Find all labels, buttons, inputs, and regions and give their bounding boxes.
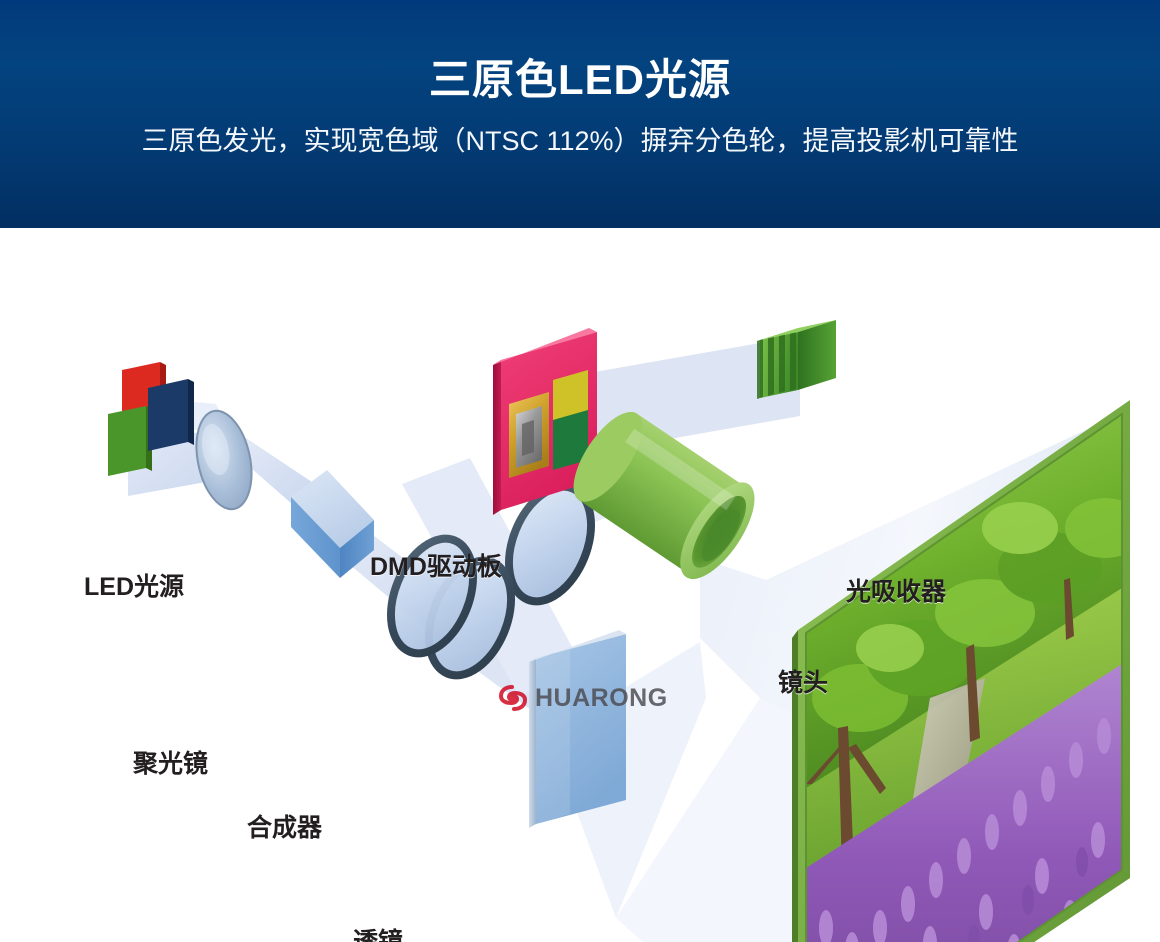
label-dmd-board: DMD驱动板 (370, 552, 502, 582)
absorber-side (798, 320, 836, 390)
huarong-logo-icon (498, 684, 528, 712)
projector-lightpath-diagram: LED光源 聚光镜 合成器 透镜 折射镜 DMD驱动板 光吸收器 镜头 HUAR… (0, 228, 1160, 942)
absorber-fins (757, 331, 798, 399)
product-feature-page: 三原色LED光源 三原色发光，实现宽色域（NTSC 112%）摒弃分色轮，提高投… (0, 0, 1160, 942)
led-panel-navy-edge (188, 379, 194, 445)
projection-screen-component (792, 398, 1145, 942)
header-banner: 三原色LED光源 三原色发光，实现宽色域（NTSC 112%）摒弃分色轮，提高投… (0, 0, 1160, 228)
dmd-chip-core-detail (522, 420, 534, 456)
dmd-board-edge (493, 360, 501, 515)
screen-scene (800, 398, 1145, 942)
page-title: 三原色LED光源 (0, 54, 1160, 106)
label-combiner: 合成器 (247, 813, 322, 843)
page-subtitle: 三原色发光，实现宽色域（NTSC 112%）摒弃分色轮，提高投影机可靠性 (0, 122, 1160, 160)
huarong-logo-text: HUARONG (535, 686, 668, 711)
label-lens: 透镜 (353, 927, 403, 942)
led-panel-navy (148, 379, 188, 451)
refractor-plate-component (529, 630, 626, 828)
brand-watermark: HUARONG (498, 684, 668, 712)
led-panel-green (108, 406, 146, 476)
label-condenser: 聚光镜 (133, 749, 208, 779)
light-absorber-component (757, 320, 836, 399)
label-led-source: LED光源 (84, 572, 184, 602)
label-light-absorber: 光吸收器 (846, 577, 946, 607)
label-projection-lens: 镜头 (778, 668, 828, 698)
refractor-plate-sheen (536, 649, 570, 824)
